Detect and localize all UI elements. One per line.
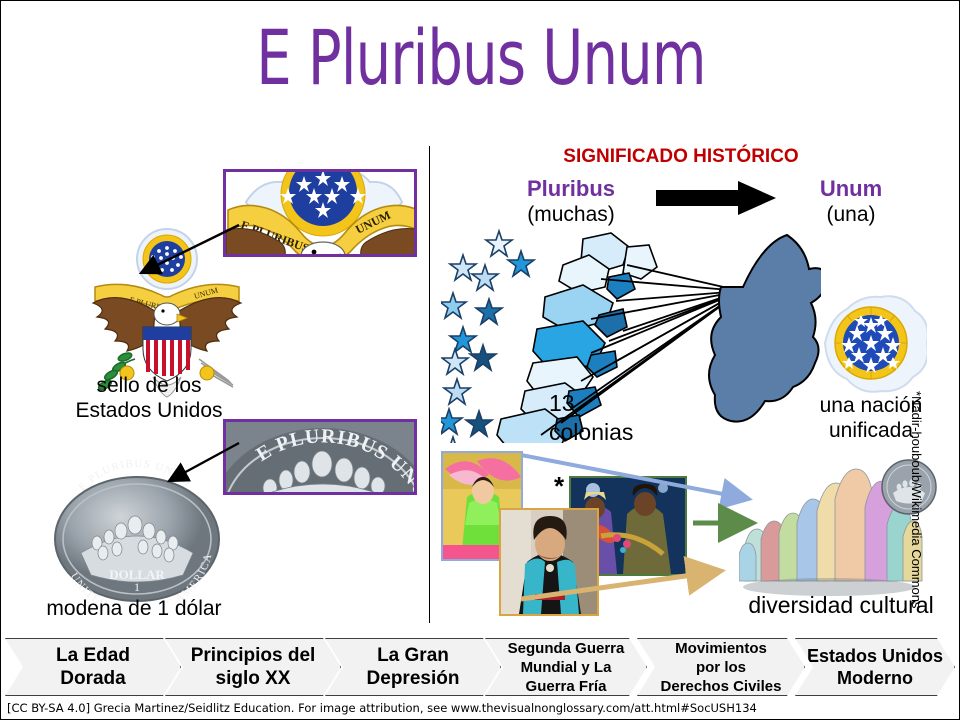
timeline-item-3-line: Mundial y La bbox=[508, 658, 625, 677]
timeline-item-5-text: Estados UnidosModerno bbox=[807, 645, 943, 689]
timeline-item-0-line: Dorada bbox=[56, 667, 130, 690]
unified-nation-emblem bbox=[815, 291, 927, 395]
slide-canvas: E Pluribus Unum E PLURIBUS UNUM bbox=[0, 0, 960, 720]
unum-label: Unum (una) bbox=[781, 176, 921, 228]
pluribus-label: Pluribus (muchas) bbox=[501, 176, 641, 228]
page-title: E Pluribus Unum bbox=[87, 15, 874, 101]
timeline-item-2-line: La Gran bbox=[367, 644, 460, 667]
timeline-item-4-line: Derechos Civiles bbox=[661, 677, 782, 696]
coin-callout-arrow bbox=[161, 441, 241, 489]
timeline-item-4-line: Movimientos bbox=[661, 639, 782, 658]
transformation-arrow-icon bbox=[656, 181, 776, 215]
timeline-item-1-text: Principios delsiglo XX bbox=[191, 644, 316, 690]
timeline-item-1[interactable]: Principios delsiglo XX bbox=[165, 638, 341, 696]
section-heading: SIGNIFICADO HISTÓRICO bbox=[431, 146, 931, 168]
unum-word: Unum bbox=[781, 176, 921, 202]
timeline-item-1-line: Principios del bbox=[191, 644, 316, 667]
timeline-item-4[interactable]: Movimientospor losDerechos Civiles bbox=[637, 638, 805, 696]
seal-caption-line2: Estados Unidos bbox=[49, 398, 249, 423]
coin-caption: modena de 1 dólar bbox=[19, 596, 249, 621]
timeline-item-0[interactable]: La EdadDorada bbox=[5, 638, 181, 696]
coin-denomination-number: 1 bbox=[134, 580, 140, 594]
coin-detail-inset: E PLURIBUS UNUM bbox=[223, 419, 417, 495]
seal-caption: sello de los Estados Unidos bbox=[49, 373, 249, 423]
seal-callout-arrow bbox=[131, 221, 241, 281]
timeline-item-5-line: Estados Unidos bbox=[807, 645, 943, 667]
timeline-item-4-text: Movimientospor losDerechos Civiles bbox=[661, 639, 782, 696]
colonies-label-line2: colonias bbox=[549, 418, 669, 447]
timeline-item-3-line: Guerra Fría bbox=[508, 677, 625, 696]
colonies-label: 13 colonias bbox=[549, 389, 669, 447]
diversity-arrows bbox=[521, 451, 771, 611]
timeline-item-3[interactable]: Segunda GuerraMundial y LaGuerra Fría bbox=[485, 638, 647, 696]
timeline-item-3-text: Segunda GuerraMundial y LaGuerra Fría bbox=[508, 639, 625, 696]
image-credit-vertical: *Nadir-houboub/Wikimedia Commons bbox=[909, 391, 924, 611]
seal-caption-line1: sello de los bbox=[49, 373, 249, 398]
timeline-item-0-text: La EdadDorada bbox=[56, 644, 130, 690]
timeline-item-2[interactable]: La GranDepresión bbox=[325, 638, 501, 696]
timeline-item-0-line: La Edad bbox=[56, 644, 130, 667]
timeline-item-2-text: La GranDepresión bbox=[367, 644, 460, 690]
seal-detail-inset: E PLURIBUS UNUM bbox=[223, 169, 417, 257]
panel-divider bbox=[429, 146, 430, 623]
timeline-item-4-line: por los bbox=[661, 658, 782, 677]
timeline: La EdadDorada Principios delsiglo XX La … bbox=[5, 638, 955, 696]
timeline-item-5-line: Moderno bbox=[807, 667, 943, 689]
timeline-item-1-line: siglo XX bbox=[191, 667, 316, 690]
timeline-item-5[interactable]: Estados UnidosModerno bbox=[795, 638, 955, 696]
colonies-label-line1: 13 bbox=[549, 389, 669, 418]
footer-attribution: [CC BY-SA 4.0] Grecia Martinez/Seidlitz … bbox=[7, 701, 807, 715]
timeline-item-2-line: Depresión bbox=[367, 667, 460, 690]
pluribus-word: Pluribus bbox=[501, 176, 641, 202]
timeline-item-3-line: Segunda Guerra bbox=[508, 639, 625, 658]
